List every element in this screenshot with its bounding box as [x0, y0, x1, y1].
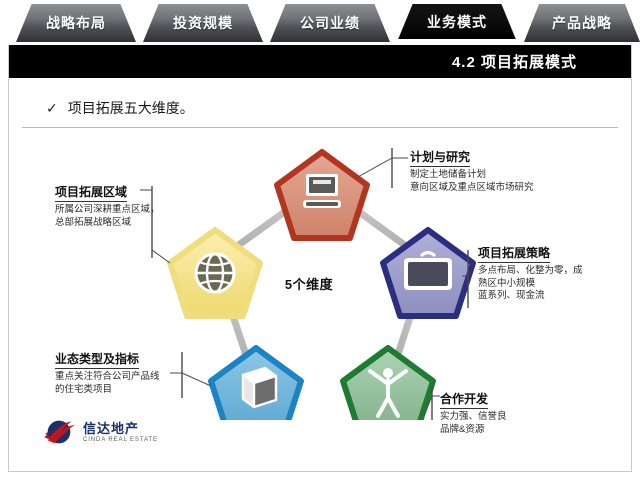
tab-business-model[interactable]: 业务模式 — [397, 4, 517, 42]
tab-company-performance[interactable]: 公司业绩 — [270, 4, 390, 42]
tab-label: 公司业绩 — [300, 13, 360, 33]
page-title: 4.2 项目拓展模式 — [452, 51, 577, 72]
callout-line: 意向区域及重点区域市场研究 — [410, 182, 534, 195]
callout-line: 重点关注符合公司产品线 — [55, 371, 160, 384]
callout-type: 业态类型及指标 重点关注符合公司产品线 的住宅类项目 — [55, 350, 160, 396]
tab-label: 战略布局 — [46, 13, 106, 33]
callout-cooperation: 合作开发 实力强、信誉良 品牌&资源 — [440, 390, 507, 436]
tab-label: 投资规模 — [173, 13, 233, 33]
callout-line: 实力强、信誉良 — [440, 411, 507, 424]
horizontal-divider — [22, 127, 618, 128]
bullet-text: 项目拓展五大维度。 — [68, 98, 194, 118]
callout-line: 的住宅类项目 — [55, 384, 160, 397]
callout-strategy: 项目拓展策略 多点布局、化整为零，成 熟区中小规模 蓝系列、现金流 — [478, 244, 583, 303]
center-label-text: 5个维度 — [285, 274, 333, 293]
callout-title: 业态类型及指标 — [55, 350, 139, 369]
node-cooperation[interactable] — [343, 348, 433, 420]
check-icon: ✓ — [46, 101, 58, 115]
cinda-swoosh-logo-icon — [42, 420, 76, 444]
node-type[interactable] — [211, 348, 301, 420]
callout-line: 多点布局、化整为零，成 — [478, 265, 583, 278]
node-plan[interactable] — [277, 152, 367, 238]
leader-type — [182, 373, 211, 386]
leader-region — [152, 250, 170, 263]
callout-line: 熟区中小规模 — [478, 278, 583, 291]
computer-icon — [303, 174, 341, 208]
callout-title: 项目拓展区域 — [55, 183, 127, 202]
logo-name-en: CINDA REAL ESTATE — [83, 437, 158, 443]
callout-plan: 计划与研究 制定土地储备计划 意向区域及重点区域市场研究 — [410, 148, 534, 194]
leader-plan — [356, 158, 392, 178]
tab-product-strategy[interactable]: 产品战略 — [524, 4, 640, 42]
tab-label: 业务模式 — [427, 12, 487, 32]
callout-line: 所属公司深耕重点区域， — [55, 204, 160, 217]
callout-title: 项目拓展策略 — [478, 244, 550, 263]
top-tab-bar: 战略布局 投资规模 公司业绩 业务模式 产品战略 — [0, 0, 640, 46]
slide-root: 战略布局 投资规模 公司业绩 业务模式 产品战略 4.2 项目拓展模式 ✓ 项目… — [0, 0, 640, 482]
callout-title: 计划与研究 — [410, 148, 470, 167]
section-title-bar: 4.2 项目拓展模式 — [9, 45, 631, 78]
callout-line: 蓝系列、现金流 — [478, 290, 583, 303]
callout-line: 总部拓展战略区域 — [55, 217, 160, 230]
callout-line: 制定土地储备计划 — [410, 169, 534, 182]
tab-label: 产品战略 — [552, 13, 612, 33]
callout-line: 品牌&资源 — [440, 424, 507, 437]
callout-region: 项目拓展区域 所属公司深耕重点区域， 总部拓展战略区域 — [55, 183, 160, 229]
company-logo: 信达地产 CINDA REAL ESTATE — [42, 420, 158, 444]
logo-text-block: 信达地产 CINDA REAL ESTATE — [83, 422, 158, 443]
callout-title: 合作开发 — [440, 390, 488, 409]
tab-strategy-layout[interactable]: 战略布局 — [16, 4, 136, 42]
logo-name-cn: 信达地产 — [83, 422, 158, 435]
bullet-row: ✓ 项目拓展五大维度。 — [46, 98, 194, 118]
tab-investment-scale[interactable]: 投资规模 — [143, 4, 263, 42]
cube-icon — [243, 368, 276, 407]
